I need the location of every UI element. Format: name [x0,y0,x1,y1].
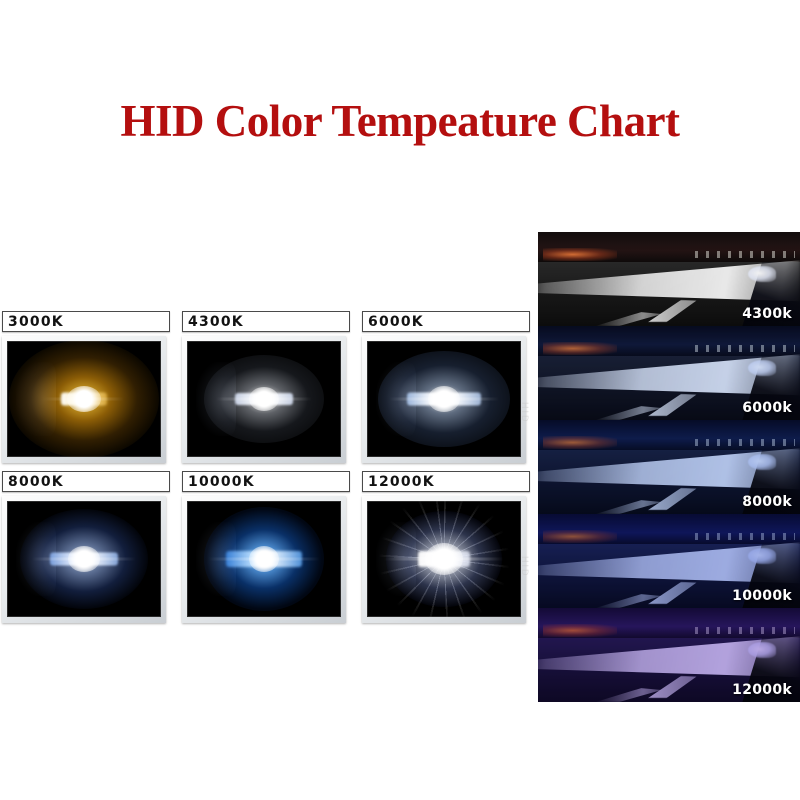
bulb-card-4300k[interactable]: 4300K [182,311,350,471]
bulb-photo-frame-12000k [362,496,526,623]
beam-label-6000k: 6000k [742,400,792,416]
bulb-flare-icon [384,558,504,561]
beam-label-4300k: 4300k [742,306,792,322]
headlight-beam-comparison-strip: 4300k 6000k 8000k [538,232,800,702]
bulb-card-3000k[interactable]: 3000K [2,311,170,471]
bulb-label-3000k: 3000K [2,311,170,332]
beam-cell-12000k[interactable]: 12000k [538,608,800,702]
bulb-glow-10000k [187,501,341,617]
bulb-card-8000k[interactable]: 8000K [2,471,170,631]
bulb-card-10000k[interactable]: 10000K [182,471,350,631]
beam-cell-8000k[interactable]: 8000k [538,420,800,514]
bulb-photo-frame-10000k [182,496,346,623]
beam-label-12000k: 12000k [732,682,792,698]
page-title: HID Color Tempeature Chart [0,95,800,147]
watermark-left-of-12000k: HID [520,556,530,578]
bulb-label-10000k: 10000K [182,471,350,492]
bulb-label-4300k: 4300K [182,311,350,332]
bulb-card-6000k[interactable]: 6000K [362,311,530,471]
bulb-photo-frame-6000k [362,336,526,463]
bulb-glow-4300k [187,341,341,457]
bulb-label-12000k: 12000K [362,471,530,492]
bulb-flare-icon [44,398,124,401]
bulb-card-12000k[interactable]: 12000K [362,471,530,631]
beam-cell-10000k[interactable]: 10000k [538,514,800,608]
bulb-flare-icon [216,398,312,401]
beam-label-10000k: 10000k [732,588,792,604]
beam-cell-4300k[interactable]: 4300k [538,232,800,326]
bulb-photo-8000k [7,501,161,617]
bulb-label-8000k: 8000K [2,471,170,492]
bulb-photo-frame-8000k [2,496,166,623]
bulb-flare-icon [32,558,136,561]
bulb-glow-8000k [7,501,161,617]
bulb-photo-6000k [367,341,521,457]
bulb-photo-4300k [187,341,341,457]
watermark-left-of-6000k: HID [520,402,530,424]
bulb-glow-3000k [7,341,161,457]
beam-cell-6000k[interactable]: 6000k [538,326,800,420]
bulb-photo-3000k [7,341,161,457]
beam-label-8000k: 8000k [742,494,792,510]
bulb-flare-icon [389,398,499,401]
bulb-photo-10000k [187,501,341,617]
bulb-label-6000k: 6000K [362,311,530,332]
bulb-flare-icon [208,558,320,561]
bulb-color-temperature-grid: 3000K 4300K [2,311,530,631]
bulb-glow-6000k [367,341,521,457]
bulb-glow-12000k [367,501,521,617]
bulb-photo-frame-4300k [182,336,346,463]
bulb-photo-12000k [367,501,521,617]
bulb-photo-frame-3000k [2,336,166,463]
